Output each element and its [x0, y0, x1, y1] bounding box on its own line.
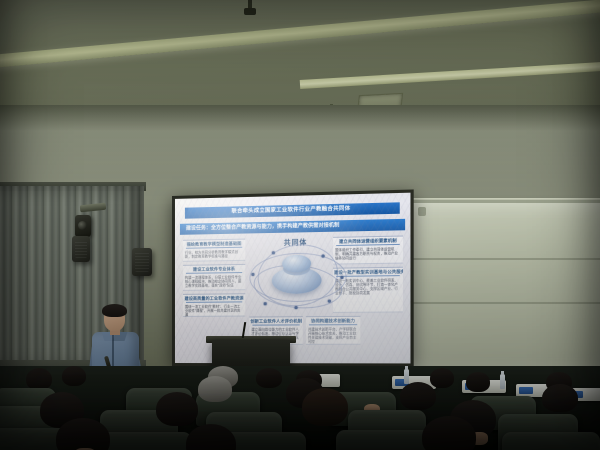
- orbit-node: [272, 251, 275, 254]
- card-rule: [252, 325, 299, 326]
- slide-card: 协同构建技术创新能力 共建技术创新平台，产学研联合开展核心技术攻关，推动工业软件…: [306, 316, 360, 345]
- presentation-photo-scene: 联合牵头成立国家工业软件行业产教融合共同体 建设任务：全方位整合产教资源与能力，…: [0, 0, 600, 450]
- audience-area: [0, 366, 600, 450]
- slide-card: 描绘教育教学模型制造基础图 行业、校方共同分析教育教学模式创新，制定教育教学标准…: [183, 239, 245, 262]
- audience-head: [430, 368, 454, 388]
- audience-head: [400, 382, 436, 410]
- whiteboard-seam: [410, 258, 600, 260]
- card-heading: 描绘教育教学模型制造基础图: [183, 240, 245, 248]
- orbit-node: [340, 276, 343, 279]
- whiteboard: [408, 200, 600, 376]
- card-heading: 创新工业软件人才评价机制: [249, 317, 302, 324]
- audience-head: [156, 392, 198, 426]
- presenter-hair: [102, 304, 127, 317]
- whiteboard-seam: [410, 302, 600, 304]
- auditorium-seat[interactable]: [336, 430, 432, 450]
- card-rule: [186, 272, 242, 273]
- water-bottle: [404, 369, 409, 384]
- wall-speaker-right: [132, 248, 152, 276]
- orbit-diagram: [249, 242, 344, 311]
- whiteboard-clip: [418, 207, 426, 216]
- audience-head: [62, 366, 86, 386]
- card-heading: 协同构建技术创新能力: [306, 317, 360, 324]
- audience-head: [302, 388, 348, 426]
- card-rule: [309, 325, 357, 326]
- card-body: 构建一流课程体系，分层工业软件专业核心课程模块，推动校企协同育人，建立教学实践基…: [183, 275, 245, 289]
- wall-shadow: [0, 105, 600, 131]
- audience-head: [26, 368, 52, 390]
- audience-head: [422, 416, 476, 450]
- slide-card: 建设工业软件专业体系 构建一流课程体系，分层工业软件专业核心课程模块，推动校企协…: [183, 264, 245, 291]
- card-heading: 建设高质量的工业软件产教资源: [183, 294, 245, 301]
- slide-card: 建设高质量的工业软件产教资源 围绕一流工业软件"教材"、行业一流工业软件"课程"…: [183, 293, 245, 317]
- orbit-node: [251, 273, 254, 276]
- slide-title: 联合牵头成立国家工业软件行业产教融合共同体: [185, 202, 400, 218]
- card-body: 行业、校方共同分析教育教学模式创新，制定教育教学标准与路径: [183, 249, 245, 260]
- slide-subtitle: 建设任务：全方位整合产教资源与能力，携手构建产教供需对接机制: [180, 219, 405, 235]
- orbit-node: [295, 306, 298, 309]
- camera-lens-icon: [78, 221, 87, 230]
- ceiling-camera-icon: [75, 215, 91, 237]
- orbit-node: [322, 254, 325, 257]
- water-bottle: [500, 374, 505, 389]
- auditorium-seat[interactable]: [96, 432, 192, 450]
- card-body: 共建技术创新平台，产学研联合开展核心技术攻关，推动工业软件关键技术突破，支撑产业…: [306, 327, 360, 345]
- audience-head: [256, 368, 282, 388]
- audience-head: [542, 384, 578, 412]
- card-heading: 建设工业软件专业体系: [183, 265, 245, 272]
- wall-speaker-left: [72, 236, 90, 262]
- orbit-node: [328, 300, 331, 303]
- card-rule: [186, 302, 242, 303]
- audience-head: [466, 372, 490, 392]
- audience-head: [198, 376, 232, 402]
- ceiling-hanger: [248, 0, 252, 12]
- card-body: 围绕一流工业软件"教材"、行业一流工业软件"课程"，开展一批共建共享的资源: [183, 304, 245, 318]
- orbit-node: [264, 302, 267, 305]
- auditorium-seat[interactable]: [502, 432, 600, 450]
